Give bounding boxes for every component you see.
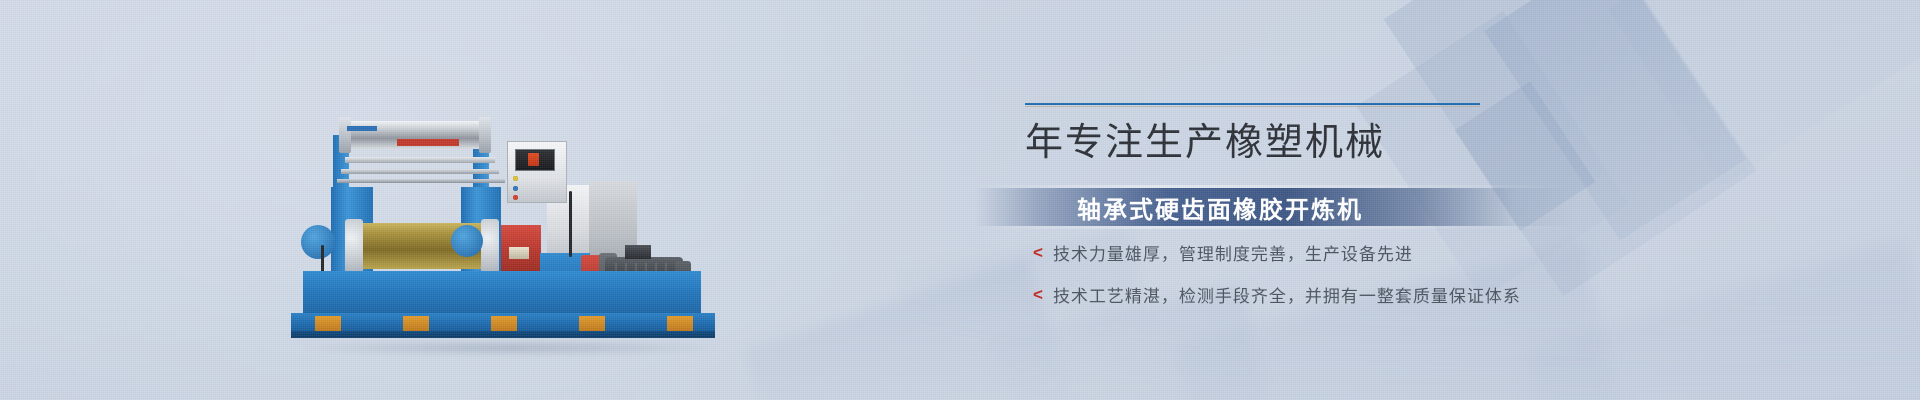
banner-subtitle: 轴承式硬齿面橡胶开炼机 bbox=[1077, 190, 1363, 225]
chevron-left-icon: < bbox=[1033, 286, 1043, 303]
product-image bbox=[285, 95, 725, 355]
banner-copy: 年专注生产橡塑机械 轴承式硬齿面橡胶开炼机 < 技术力量雄厚，管理制度完善，生产… bbox=[1025, 100, 1785, 165]
promo-banner: 年专注生产橡塑机械 轴承式硬齿面橡胶开炼机 < 技术力量雄厚，管理制度完善，生产… bbox=[0, 0, 1920, 400]
rubber-mixing-mill-illustration bbox=[285, 95, 725, 355]
subtitle-ribbon: 轴承式硬齿面橡胶开炼机 bbox=[975, 188, 1575, 226]
chevron-left-icon: < bbox=[1033, 244, 1043, 261]
list-item: < 技术力量雄厚，管理制度完善，生产设备先进 bbox=[1033, 240, 1521, 265]
subtitle-ribbon-highlight-bottom bbox=[975, 226, 1575, 229]
list-item: < 技术工艺精湛，检测手段齐全，并拥有一整套质量保证体系 bbox=[1033, 282, 1521, 307]
decor-bottom-shape-1 bbox=[743, 258, 1078, 400]
feature-text: 技术工艺精湛，检测手段齐全，并拥有一整套质量保证体系 bbox=[1053, 282, 1521, 307]
feature-text: 技术力量雄厚，管理制度完善，生产设备先进 bbox=[1053, 240, 1413, 265]
headline-rule bbox=[1025, 100, 1480, 110]
headline-rule-secondary bbox=[1025, 106, 1480, 107]
decor-bottom-shape-4 bbox=[1520, 239, 1920, 400]
banner-headline: 年专注生产橡塑机械 bbox=[1025, 119, 1785, 165]
headline-rule-primary bbox=[1025, 103, 1480, 105]
feature-list: < 技术力量雄厚，管理制度完善，生产设备先进 < 技术工艺精湛，检测手段齐全，并… bbox=[1033, 240, 1521, 324]
